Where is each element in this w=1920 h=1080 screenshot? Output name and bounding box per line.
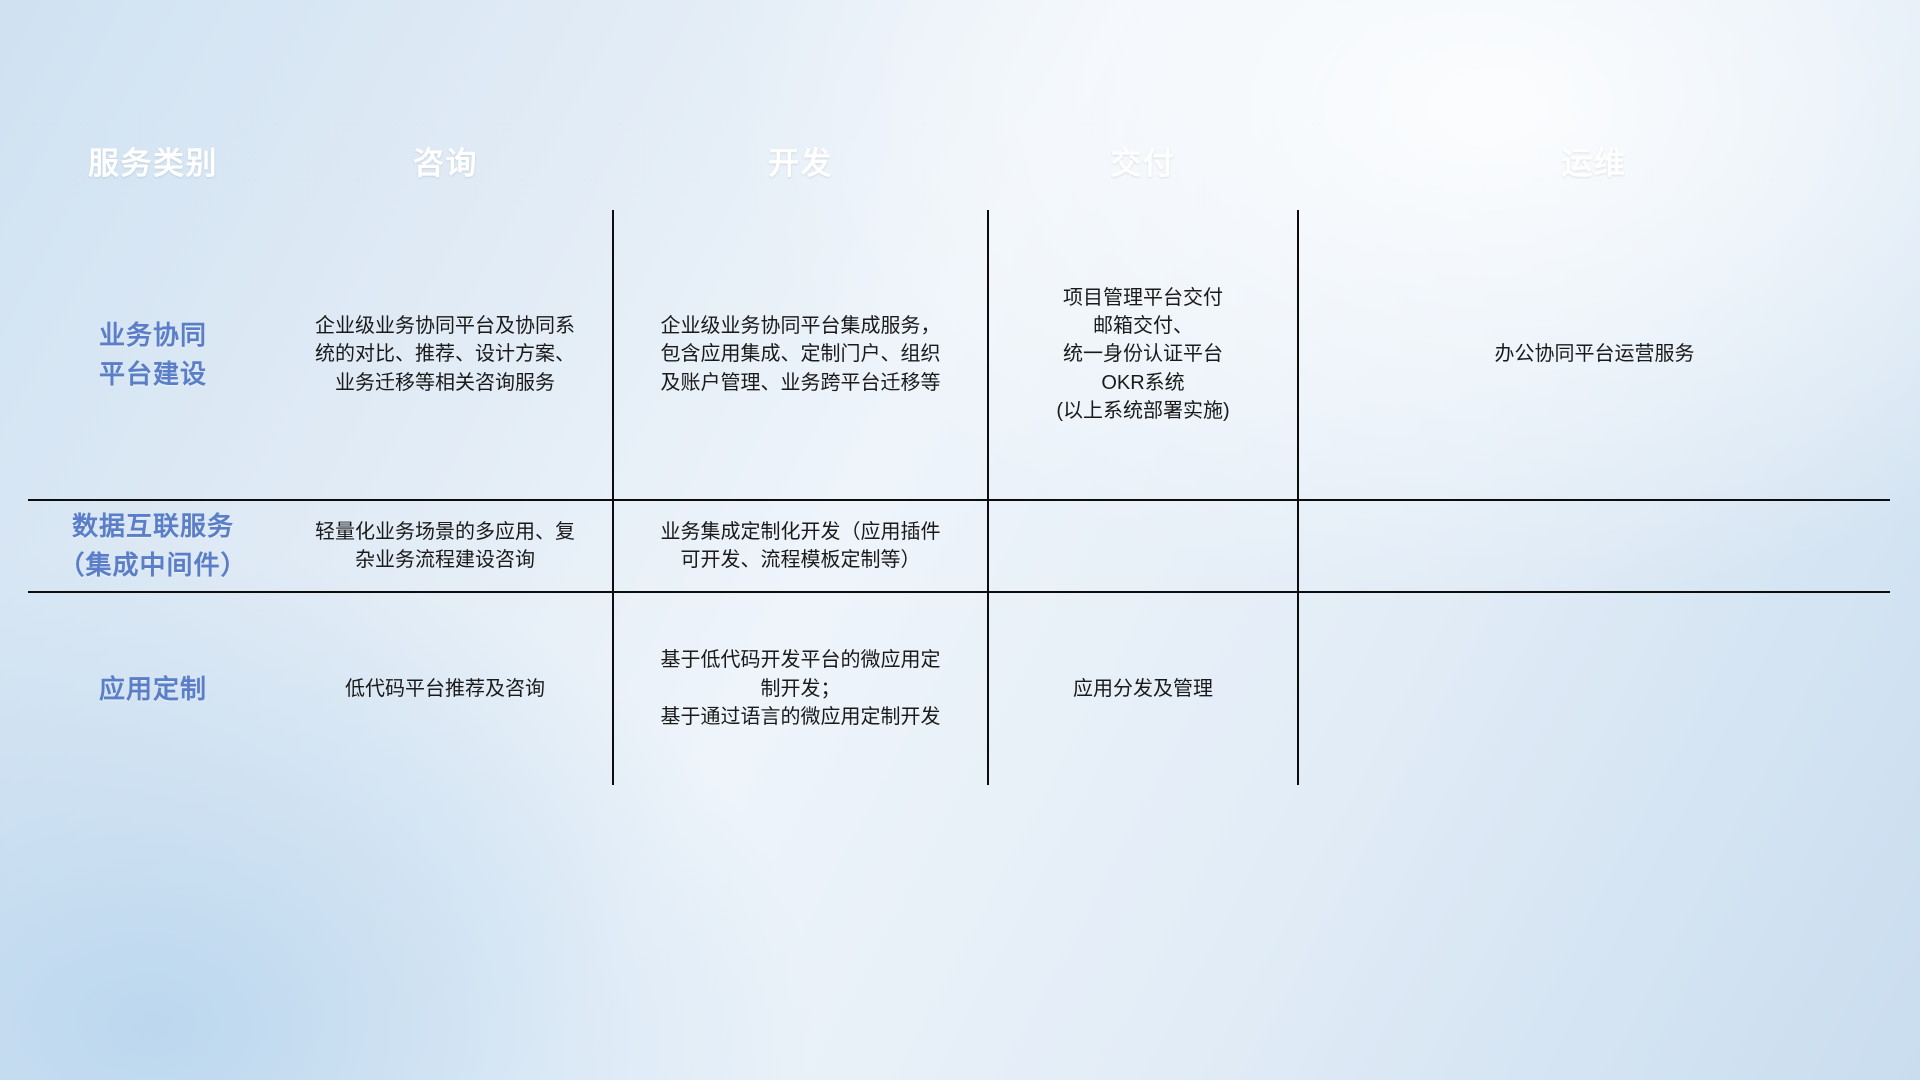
table-row: 应用定制低代码平台推荐及咨询基于低代码开发平台的微应用定制开发；基于通过语言的微… (28, 592, 1890, 785)
cell-category-row2: 数据互联服务（集成中间件） (28, 500, 278, 592)
text-line: 数据互联服务 (40, 507, 266, 546)
text-line: 平台建设 (40, 355, 266, 394)
text-line: 统的对比、推荐、设计方案、 (290, 340, 600, 368)
text-line: 及账户管理、业务跨平台迁移等 (626, 369, 975, 397)
cell-operations-row3 (1298, 592, 1890, 785)
cell-text: 企业级业务协同平台集成服务，包含应用集成、定制门户、组织及账户管理、业务跨平台迁… (626, 312, 975, 397)
cell-text: 办公协同平台运营服务 (1311, 340, 1878, 368)
cell-development-row2: 业务集成定制化开发（应用插件可开发、流程模板定制等） (613, 500, 988, 592)
cell-consulting-row1: 企业级业务协同平台及协同系统的对比、推荐、设计方案、业务迁移等相关咨询服务 (278, 210, 613, 500)
cell-operations-row1: 办公协同平台运营服务 (1298, 210, 1890, 500)
text-line: 应用定制 (40, 670, 266, 709)
cell-development-row1: 企业级业务协同平台集成服务，包含应用集成、定制门户、组织及账户管理、业务跨平台迁… (613, 210, 988, 500)
cell-category-row3: 应用定制 (28, 592, 278, 785)
text-line: 基于低代码开发平台的微应用定 (626, 646, 975, 674)
text-line: 轻量化业务场景的多应用、复 (290, 518, 600, 546)
header-dot-texture (28, 110, 1890, 210)
text-line: 邮箱交付、 (1001, 312, 1285, 340)
text-line: 统一身份认证平台 (1001, 340, 1285, 368)
cell-text: 数据互联服务（集成中间件） (40, 507, 266, 585)
text-line: 业务协同 (40, 316, 266, 355)
cell-operations-row2 (1298, 500, 1890, 592)
table-row: 数据互联服务（集成中间件）轻量化业务场景的多应用、复杂业务流程建设咨询业务集成定… (28, 500, 1890, 592)
text-line: 低代码平台推荐及咨询 (290, 675, 600, 703)
cell-text: 业务协同平台建设 (40, 316, 266, 394)
service-matrix-table: 业务协同平台建设企业级业务协同平台及协同系统的对比、推荐、设计方案、业务迁移等相… (28, 210, 1890, 785)
text-line: 包含应用集成、定制门户、组织 (626, 340, 975, 368)
cell-text: 项目管理平台交付邮箱交付、统一身份认证平台OKR系统(以上系统部署实施) (1001, 284, 1285, 426)
cell-text: 应用分发及管理 (1001, 675, 1285, 703)
slide-canvas: 服务类别咨询开发交付运维 业务协同平台建设企业级业务协同平台及协同系统的对比、推… (0, 0, 1920, 1080)
text-line: 制开发； (626, 675, 975, 703)
text-line: （集成中间件） (40, 546, 266, 585)
cell-text: 基于低代码开发平台的微应用定制开发；基于通过语言的微应用定制开发 (626, 646, 975, 731)
cell-delivery-row3: 应用分发及管理 (988, 592, 1298, 785)
text-line: (以上系统部署实施) (1001, 397, 1285, 425)
cell-text: 低代码平台推荐及咨询 (290, 675, 600, 703)
table-body: 业务协同平台建设企业级业务协同平台及协同系统的对比、推荐、设计方案、业务迁移等相… (28, 210, 1890, 778)
cell-text: 轻量化业务场景的多应用、复杂业务流程建设咨询 (290, 518, 600, 575)
cell-category-row1: 业务协同平台建设 (28, 210, 278, 500)
text-line: 业务集成定制化开发（应用插件 (626, 518, 975, 546)
table-header-band (28, 110, 1890, 210)
cell-development-row3: 基于低代码开发平台的微应用定制开发；基于通过语言的微应用定制开发 (613, 592, 988, 785)
text-line: 办公协同平台运营服务 (1311, 340, 1878, 368)
text-line: 杂业务流程建设咨询 (290, 546, 600, 574)
cell-text: 应用定制 (40, 670, 266, 709)
text-line: 可开发、流程模板定制等） (626, 546, 975, 574)
cell-text: 业务集成定制化开发（应用插件可开发、流程模板定制等） (626, 518, 975, 575)
cell-consulting-row2: 轻量化业务场景的多应用、复杂业务流程建设咨询 (278, 500, 613, 592)
cell-delivery-row1: 项目管理平台交付邮箱交付、统一身份认证平台OKR系统(以上系统部署实施) (988, 210, 1298, 500)
text-line: 业务迁移等相关咨询服务 (290, 369, 600, 397)
table-row: 业务协同平台建设企业级业务协同平台及协同系统的对比、推荐、设计方案、业务迁移等相… (28, 210, 1890, 500)
text-line: 企业级业务协同平台集成服务， (626, 312, 975, 340)
cell-text: 企业级业务协同平台及协同系统的对比、推荐、设计方案、业务迁移等相关咨询服务 (290, 312, 600, 397)
text-line: 应用分发及管理 (1001, 675, 1285, 703)
cell-delivery-row2 (988, 500, 1298, 592)
text-line: OKR系统 (1001, 369, 1285, 397)
text-line: 企业级业务协同平台及协同系 (290, 312, 600, 340)
text-line: 基于通过语言的微应用定制开发 (626, 703, 975, 731)
cell-consulting-row3: 低代码平台推荐及咨询 (278, 592, 613, 785)
text-line: 项目管理平台交付 (1001, 284, 1285, 312)
